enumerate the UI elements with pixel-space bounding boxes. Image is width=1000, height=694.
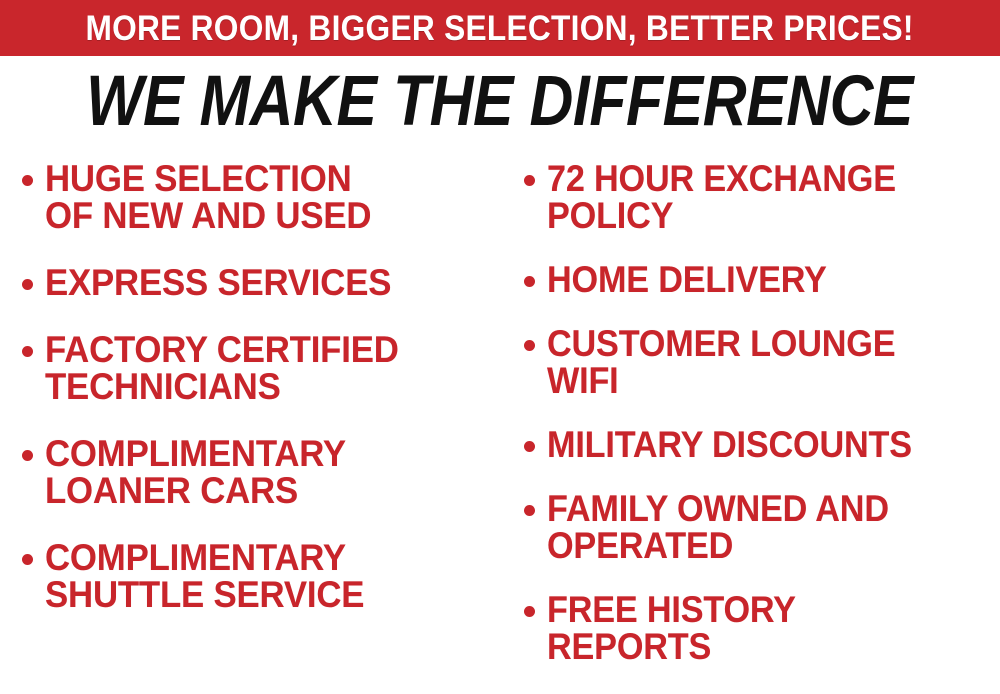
list-item-label: FACTORY CERTIFIED TECHNICIANS [45,331,399,405]
benefits-column-right: 72 HOUR EXCHANGE POLICY HOME DELIVERY CU… [500,160,1000,692]
list-item: CUSTOMER LOUNGE WIFI [524,325,1000,399]
benefits-columns: HUGE SELECTION OF NEW AND USED EXPRESS S… [0,160,1000,694]
list-item-label: MILITARY DISCOUNTS [547,426,912,463]
list-item-label: CUSTOMER LOUNGE WIFI [547,325,895,399]
benefits-column-left: HUGE SELECTION OF NEW AND USED EXPRESS S… [0,160,500,643]
bullet-dot-icon [22,175,33,186]
bullet-dot-icon [524,441,535,452]
bullet-dot-icon [524,175,535,186]
promo-banner-text: MORE ROOM, BIGGER SELECTION, BETTER PRIC… [86,11,914,46]
list-item: COMPLIMENTARY SHUTTLE SERVICE [22,539,500,613]
list-item-label: EXPRESS SERVICES [45,264,391,301]
list-item-label: 72 HOUR EXCHANGE POLICY [547,160,896,234]
list-item-label: HOME DELIVERY [547,261,827,298]
list-item-label: COMPLIMENTARY SHUTTLE SERVICE [45,539,364,613]
bullet-dot-icon [22,450,33,461]
page-title: WE MAKE THE DIFFERENCE [86,66,913,137]
bullet-dot-icon [524,276,535,287]
list-item-label: FREE HISTORY REPORTS [547,591,796,665]
list-item: EXPRESS SERVICES [22,264,500,301]
list-item: MILITARY DISCOUNTS [524,426,1000,463]
bullet-dot-icon [22,279,33,290]
headline-container: WE MAKE THE DIFFERENCE [0,62,1000,140]
list-item: FACTORY CERTIFIED TECHNICIANS [22,331,500,405]
list-item-label: COMPLIMENTARY LOANER CARS [45,435,346,509]
promo-banner: MORE ROOM, BIGGER SELECTION, BETTER PRIC… [0,0,1000,56]
list-item: FAMILY OWNED AND OPERATED [524,490,1000,564]
list-item-label: HUGE SELECTION OF NEW AND USED [45,160,371,234]
bullet-dot-icon [22,554,33,565]
list-item: 72 HOUR EXCHANGE POLICY [524,160,1000,234]
list-item: FREE HISTORY REPORTS [524,591,1000,665]
bullet-dot-icon [524,606,535,617]
bullet-dot-icon [524,505,535,516]
bullet-dot-icon [22,346,33,357]
list-item-label: FAMILY OWNED AND OPERATED [547,490,889,564]
bullet-dot-icon [524,340,535,351]
list-item: HUGE SELECTION OF NEW AND USED [22,160,500,234]
list-item: COMPLIMENTARY LOANER CARS [22,435,500,509]
list-item: HOME DELIVERY [524,261,1000,298]
